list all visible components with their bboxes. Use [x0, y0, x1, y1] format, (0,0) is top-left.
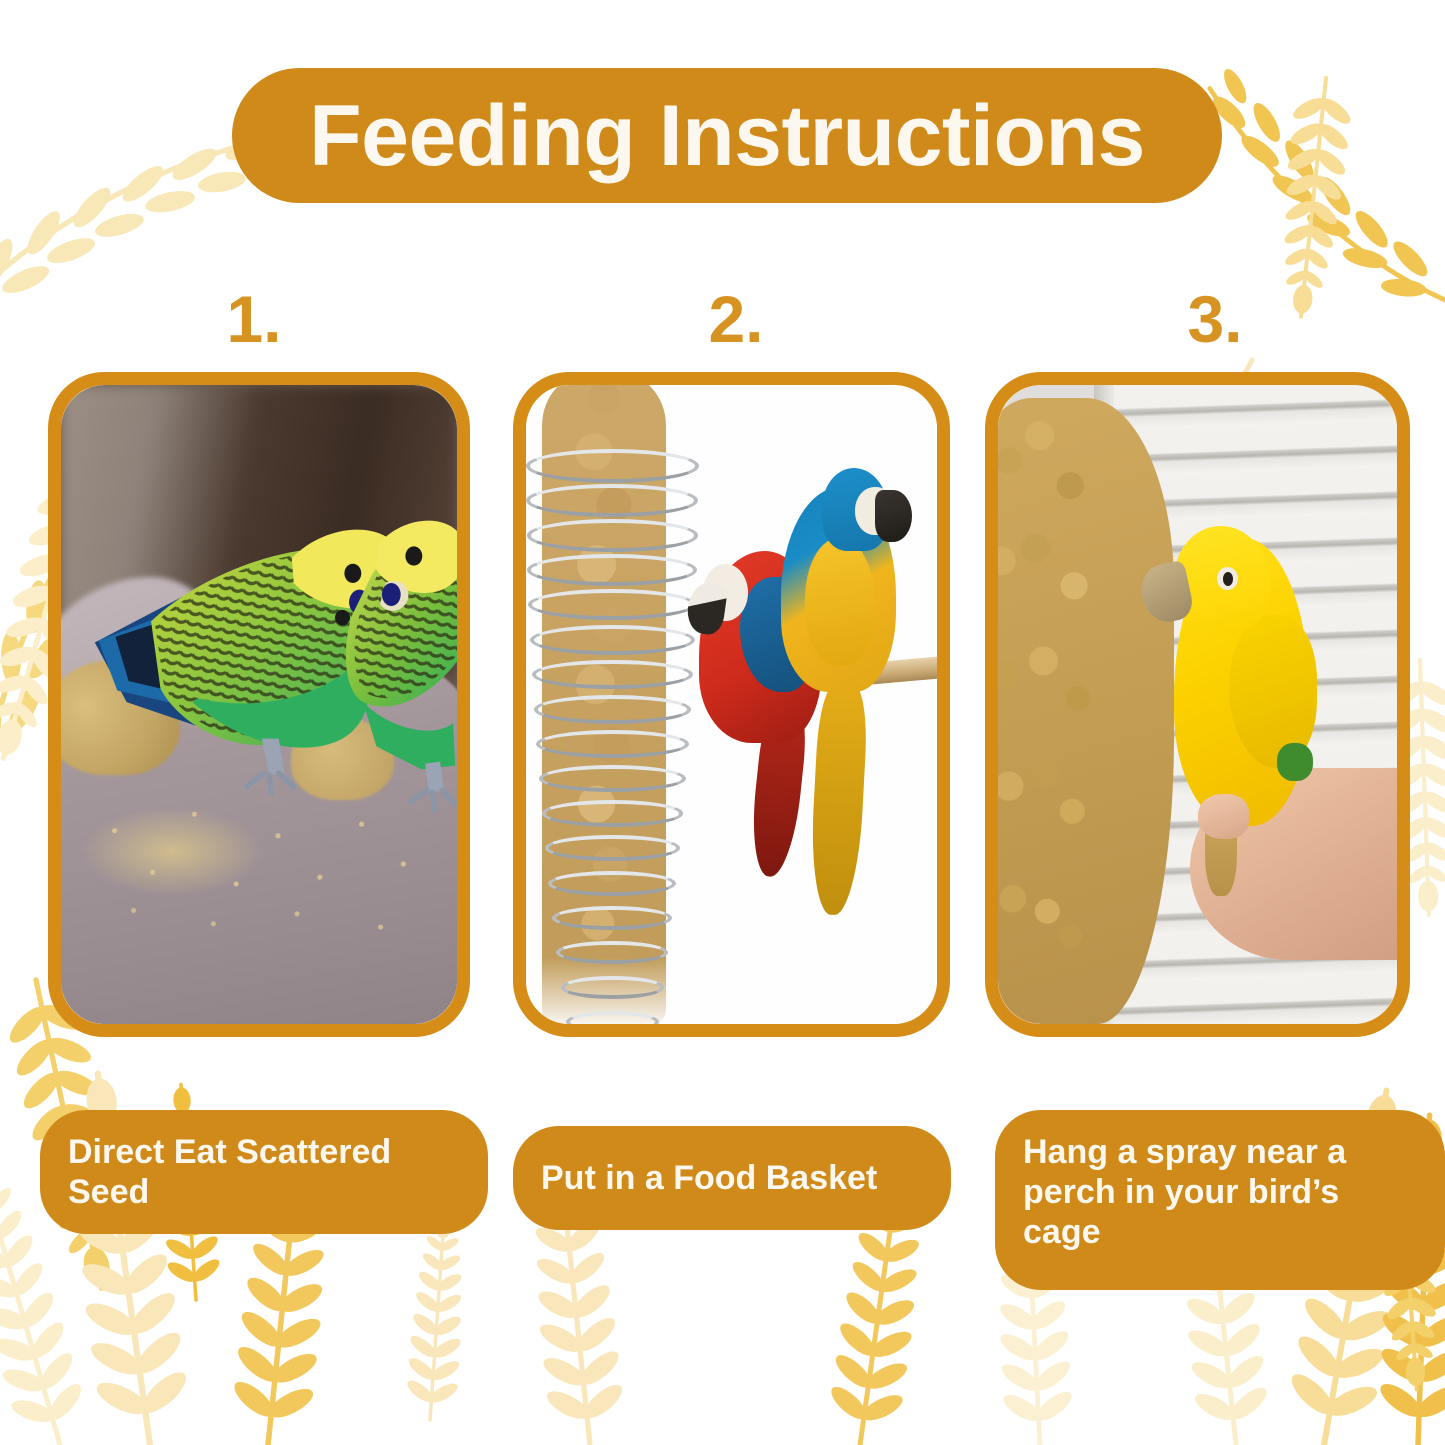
step-number-1: 1.	[194, 286, 314, 352]
photo3-hanging-millet-sprays	[998, 398, 1174, 1024]
step-caption-1: Direct Eat Scattered Seed	[40, 1110, 488, 1234]
feeding-instructions-infographic: Feeding Instructions 1. 2. 3.	[0, 0, 1445, 1445]
step-caption-2: Put in a Food Basket	[513, 1126, 951, 1230]
photo2-blue-macaw-beak	[875, 490, 912, 541]
step-caption-3: Hang a spray near a perch in your bird’s…	[995, 1110, 1445, 1290]
step-number-2: 2.	[676, 286, 796, 352]
wheat-stalk-icon	[402, 1209, 473, 1422]
page-title: Feeding Instructions	[309, 93, 1145, 179]
photo3-yellow-conure-green-tail-tip	[1277, 743, 1313, 781]
step-number-3: 3.	[1155, 286, 1275, 352]
step-photo-card-2	[513, 372, 950, 1037]
step-photo-3	[998, 385, 1397, 1024]
photo2-spiral-wire-feeder	[526, 449, 699, 1011]
photo1-budgies	[61, 385, 457, 1024]
step-photo-card-1	[48, 372, 470, 1037]
step-caption-3-text: Hang a spray near a perch in your bird’s…	[1023, 1132, 1419, 1252]
photo3-human-finger	[1198, 794, 1250, 839]
step-caption-2-text: Put in a Food Basket	[541, 1158, 877, 1198]
step-caption-1-text: Direct Eat Scattered Seed	[68, 1132, 462, 1212]
photo2-blue-macaw-belly	[805, 538, 875, 666]
step-photo-card-3	[985, 372, 1410, 1037]
step-photo-2	[526, 385, 937, 1024]
wheat-stalk-icon	[1269, 75, 1358, 320]
photo3-yellow-conure-pupil	[1223, 572, 1233, 586]
step-photo-1	[61, 385, 457, 1024]
page-title-banner: Feeding Instructions	[232, 68, 1222, 203]
